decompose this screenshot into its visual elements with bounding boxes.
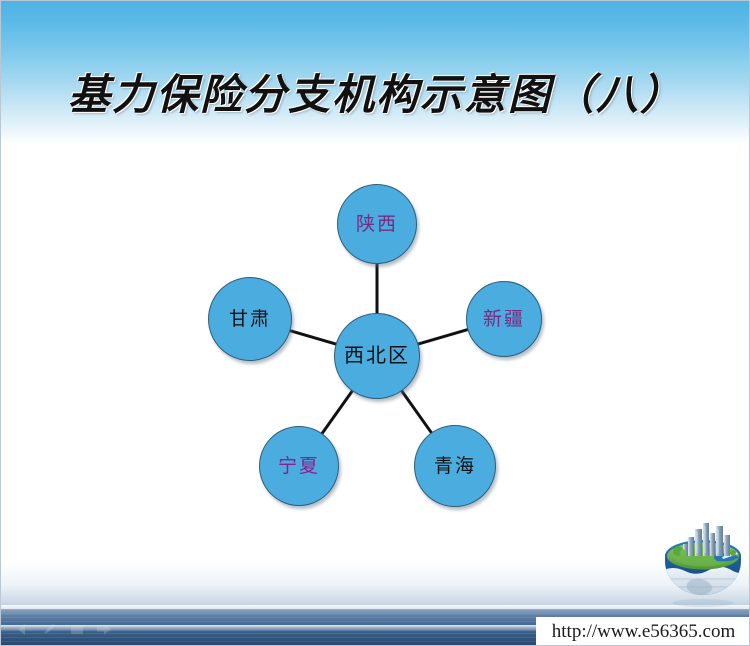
pen-icon[interactable]: [42, 623, 58, 636]
presentation-slide: 基力保险分支机构示意图（八） 陕西甘肃新疆宁夏青海西北区: [0, 0, 750, 646]
next-slide-icon[interactable]: [96, 623, 112, 636]
diagram-node-label: 新疆: [483, 310, 525, 329]
diagram-node-branch-2[interactable]: 新疆: [466, 281, 542, 357]
diagram-node-label: 青海: [434, 457, 476, 476]
slide-title: 基力保险分支机构示意图（八）: [1, 61, 750, 122]
website-url-box[interactable]: http://www.e56365.com: [536, 617, 750, 646]
diagram-node-branch-0[interactable]: 陕西: [337, 184, 417, 264]
diagram-node-label: 宁夏: [278, 457, 320, 476]
diagram-node-label: 陕西: [356, 215, 398, 234]
diagram-node-branch-1[interactable]: 甘肃: [208, 277, 292, 361]
diagram-node-branch-3[interactable]: 宁夏: [259, 426, 339, 506]
previous-slide-icon[interactable]: [15, 623, 31, 636]
website-url-text: http://www.e56365.com: [552, 621, 735, 643]
diagram-node-label: 甘肃: [229, 310, 271, 329]
globe-city-logo: [659, 513, 747, 609]
diagram-node-label: 西北区: [344, 346, 410, 366]
slide-menu-icon[interactable]: [69, 623, 85, 636]
slideshow-navigation-bar[interactable]: [15, 623, 112, 636]
diagram-node-branch-4[interactable]: 青海: [414, 425, 496, 507]
diagram-node-center[interactable]: 西北区: [334, 313, 420, 399]
